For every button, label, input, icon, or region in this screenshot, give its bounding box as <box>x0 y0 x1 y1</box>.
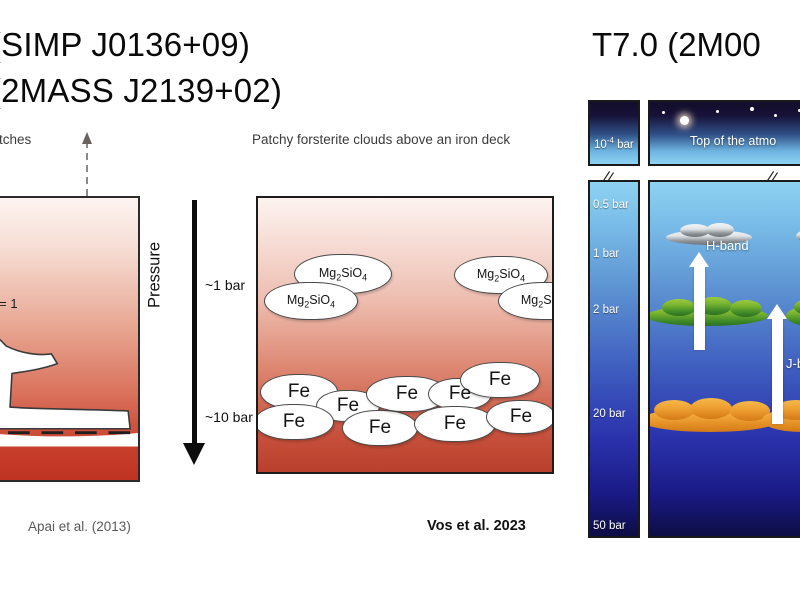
j-band-arrow-head <box>767 304 787 319</box>
pressure-arrow-head <box>183 443 205 465</box>
iron-cloud: Fe <box>486 400 554 434</box>
star-icon <box>774 114 777 117</box>
pressure-arrow-shaft <box>192 200 197 445</box>
iron-cloud: Fe <box>256 404 334 440</box>
cloud-layer-green <box>662 299 696 316</box>
iron-cloud-label: Fe <box>337 395 359 417</box>
title-left-line1: 5 (SIMP J0136+09) <box>0 26 392 64</box>
pressure-label-2bar: 2 bar <box>593 304 619 316</box>
citation-right: Vos et al. 2023 <box>427 518 526 534</box>
star-icon <box>662 111 665 114</box>
h-band-label: H-band <box>706 238 749 253</box>
tau-equals-one-label: τ= 1 <box>0 296 18 311</box>
right-scale-strip-main: 0.5 bar 1 bar 2 bar 20 bar 50 bar <box>588 180 640 538</box>
iron-cloud-label: Fe <box>396 383 418 405</box>
pressure-mark-10bar: ~10 bar <box>205 409 253 425</box>
star-icon <box>680 116 689 125</box>
iron-cloud-label: Fe <box>449 383 471 405</box>
j-band-arrow-shaft <box>772 318 783 424</box>
pressure-label-20bar: 20 bar <box>593 408 626 420</box>
cloud-chimney-shape <box>0 198 138 480</box>
forsterite-cloud-label: Mg2SiO4 <box>477 267 525 284</box>
iron-cloud-label: Fe <box>369 417 391 439</box>
cloud-layer-orange <box>654 400 694 420</box>
pressure-label-1bar: 1 bar <box>593 248 619 260</box>
pressure-axis-label: Pressure <box>146 242 165 308</box>
pressure-mark-1bar: ~1 bar <box>205 277 245 293</box>
panel-middle-forsterite-iron: Mg2SiO4Mg2SiO4Mg2SiO4Mg2SiO4FeFeFeFeFeFe… <box>256 196 554 474</box>
forsterite-cloud-label: Mg2SiO4 <box>521 293 554 310</box>
iron-cloud-label: Fe <box>283 411 305 433</box>
citation-left: Apai et al. (2013) <box>28 519 131 534</box>
pressure-label-50bar: 50 bar <box>593 520 626 532</box>
star-icon <box>716 110 719 113</box>
cloud-layer-orange <box>690 398 732 419</box>
panel-left-cloud-patches <box>0 196 140 482</box>
title-left-line2: 5 (2MASS J2139+02) <box>0 72 282 110</box>
cloud-layer-gray <box>706 223 734 237</box>
j-band-label: J-ba <box>786 356 800 371</box>
h-band-arrow-head <box>689 252 709 267</box>
top-of-atmosphere-label: Top of the atmo <box>690 134 776 148</box>
pressure-label-1e-4bar: 10-4 bar <box>594 136 634 151</box>
forsterite-cloud: Mg2SiO4 <box>264 282 358 320</box>
iron-cloud-label: Fe <box>444 413 466 435</box>
h-band-arrow-shaft <box>694 266 705 350</box>
upward-dashed-arrow-outside <box>80 130 94 200</box>
iron-cloud-label: Fe <box>288 381 310 403</box>
cloud-layer-green <box>730 300 762 317</box>
iron-cloud-label: Fe <box>510 406 532 428</box>
iron-cloud-label: Fe <box>489 369 511 391</box>
forsterite-cloud-label: Mg2SiO4 <box>287 293 335 310</box>
forsterite-cloud-label: Mg2SiO4 <box>319 266 367 283</box>
pressure-label-0p5bar: 0.5 bar <box>593 199 629 211</box>
iron-cloud: Fe <box>460 362 540 398</box>
cloud-layer-gray <box>796 229 800 243</box>
right-scale-strip-top: 10-4 bar <box>588 100 640 166</box>
star-icon <box>750 107 754 111</box>
caption-middle: Patchy forsterite clouds above an iron d… <box>252 132 510 147</box>
title-left-group: 5 (SIMP J0136+09) 5 (2MASS J2139+02) <box>0 26 392 64</box>
right-sky-main: H-band J-ba <box>648 180 800 538</box>
iron-cloud: Fe <box>414 406 496 442</box>
title-right: T7.0 (2M00 <box>592 26 761 64</box>
right-sky-top: Top of the atmo <box>648 100 800 166</box>
slide-canvas: 5 (SIMP J0136+09) 5 (2MASS J2139+02) T7.… <box>0 0 800 600</box>
